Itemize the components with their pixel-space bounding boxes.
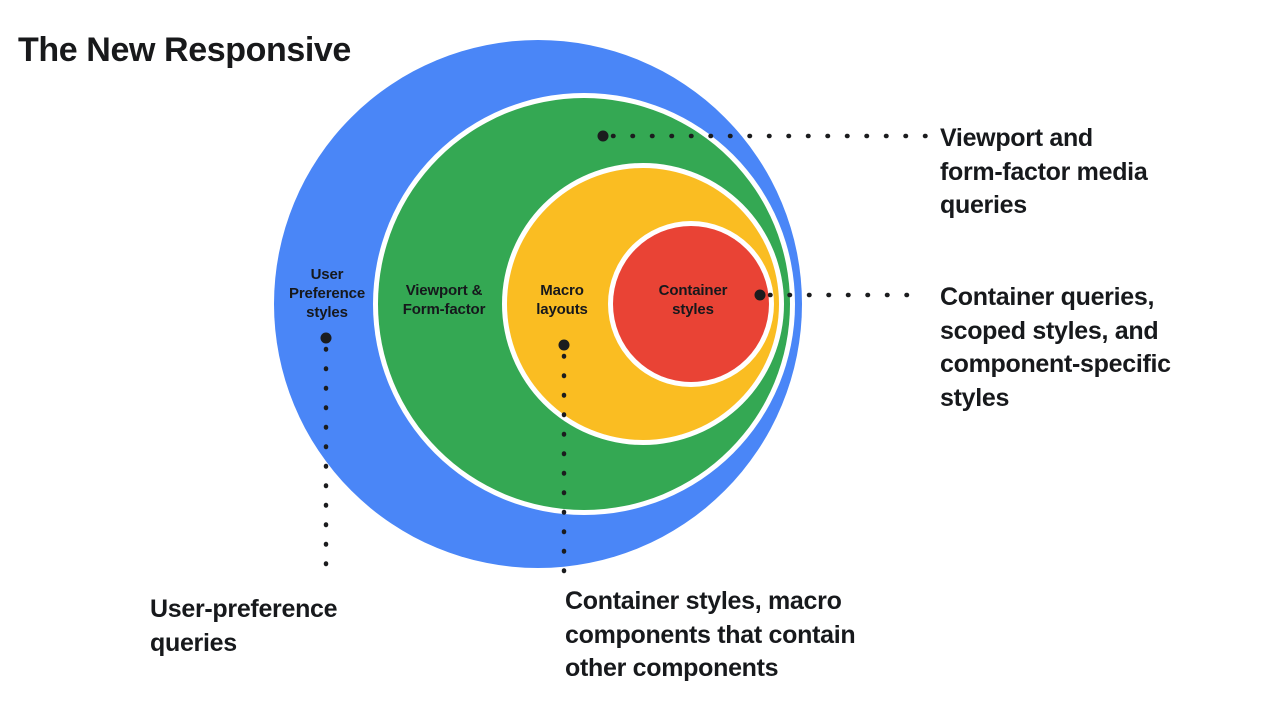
callout-user-preference-queries: User-preference queries — [150, 593, 450, 660]
nested-circles-diagram: User Preference styles Viewport & Form-f… — [0, 0, 1280, 707]
callout-container-queries: Container queries, scoped styles, and co… — [940, 281, 1272, 415]
leader-user-preference-dot — [321, 333, 332, 344]
leader-container-dot — [755, 290, 766, 301]
callout-viewport-media-queries: Viewport and form-factor media queries — [940, 122, 1270, 223]
ring-container-circle — [613, 226, 769, 382]
leader-viewport-dot — [598, 131, 609, 142]
callout-container-styles-macro-components: Container styles, macro components that … — [565, 585, 995, 686]
leader-macro-dot — [559, 340, 570, 351]
